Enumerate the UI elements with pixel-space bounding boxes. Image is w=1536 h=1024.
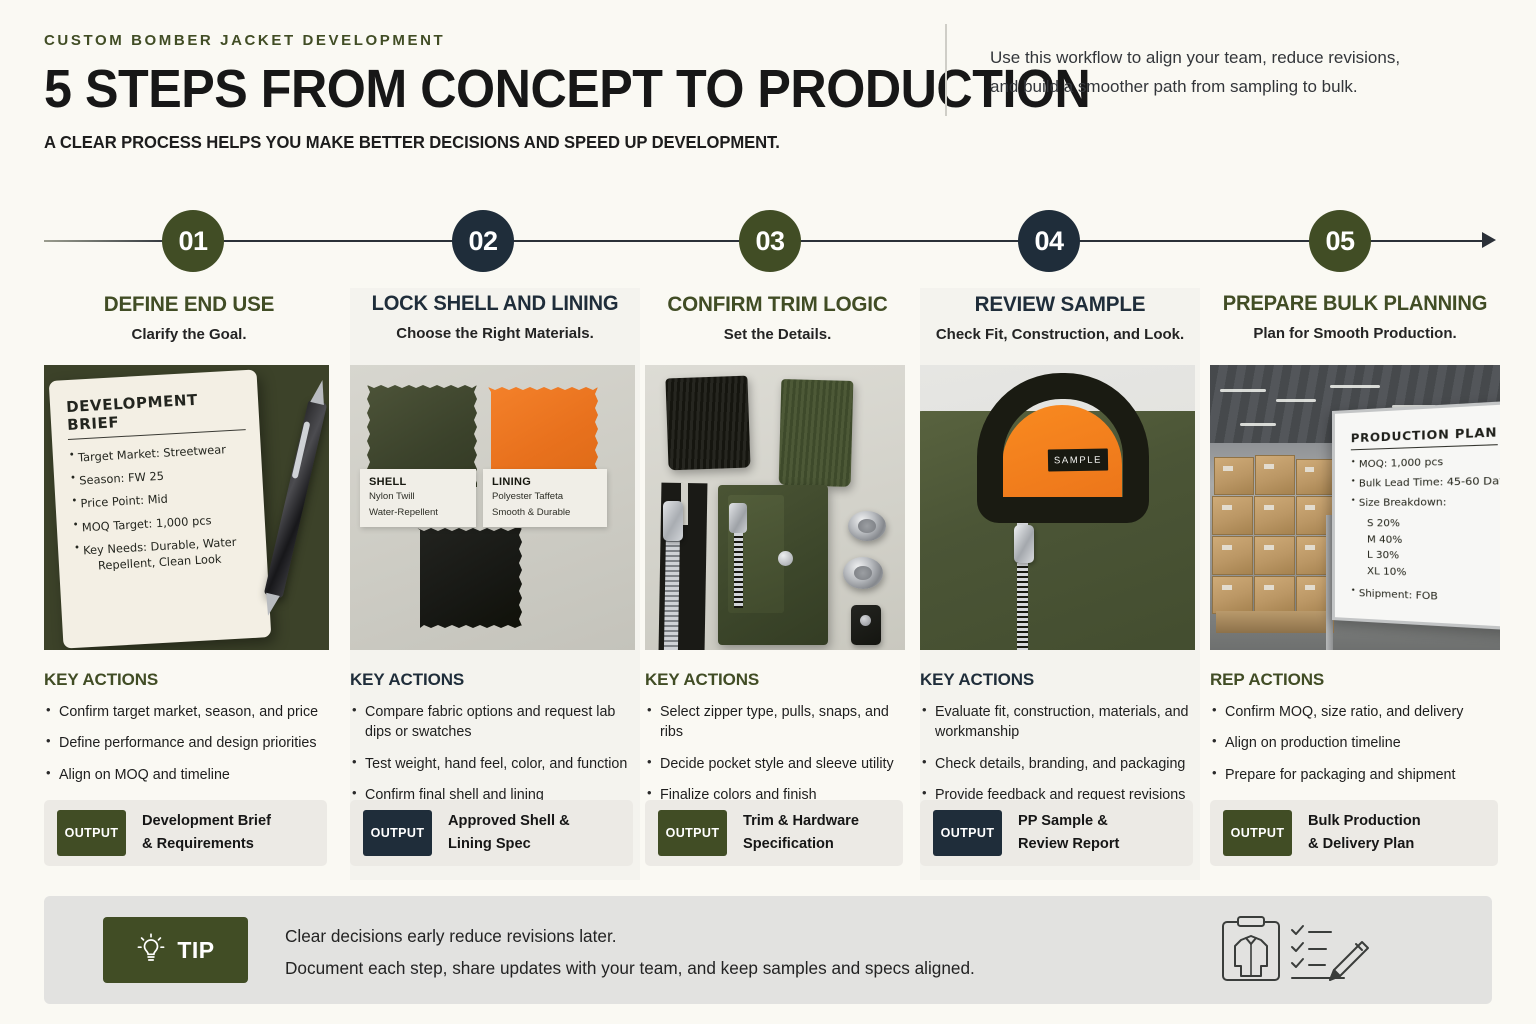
step-image-sample-jacket: SAMPLE <box>920 365 1195 650</box>
notepad-item: Price Point: Mid <box>71 486 250 512</box>
swatch-label-line-2: Water-Repellent <box>369 506 468 520</box>
step-tagline-02: Choose the Right Materials. <box>350 325 640 342</box>
key-actions-block-05: REP ACTIONS Confirm MOQ, size ratio, and… <box>1210 670 1500 796</box>
output-box-02[interactable]: OUTPUT Approved Shell & Lining Spec <box>350 800 633 866</box>
pencil-icon <box>1330 942 1368 980</box>
output-badge-03: OUTPUT <box>658 810 727 856</box>
output-box-04[interactable]: OUTPUT PP Sample & Review Report <box>920 800 1193 866</box>
timeline-step-marker-05[interactable]: 05 <box>1309 210 1371 272</box>
ceiling-light <box>1330 385 1380 388</box>
key-actions-list-03: Select zipper type, pulls, snaps, and ri… <box>645 702 910 806</box>
board-list-bottom: Shipment: FOB <box>1351 587 1500 608</box>
step-title-02: LOCK SHELL AND LINING <box>356 292 634 316</box>
key-action-item: Prepare for packaging and shipment <box>1210 765 1500 785</box>
output-text-04: PP Sample & Review Report <box>1018 810 1119 855</box>
sample-tag: SAMPLE <box>1048 448 1108 471</box>
board-list: MOQ: 1,000 pcs Bulk Lead Time: 45-60 Day… <box>1351 454 1500 511</box>
swatch-label-shell: SHELL Nylon Twill Water-Repellent <box>360 469 476 527</box>
output-line-1: Development Brief <box>142 810 271 833</box>
swatch-rib-black <box>417 528 522 628</box>
key-action-item: Check details, branding, and packaging <box>920 754 1200 774</box>
step-column-01: DEFINE END USE Clarify the Goal. DEVELOP… <box>44 288 334 880</box>
output-box-05[interactable]: OUTPUT Bulk Production & Delivery Plan <box>1210 800 1498 866</box>
step-title-03: CONFIRM TRIM LOGIC <box>650 292 904 317</box>
zipper-teeth <box>664 527 680 650</box>
output-badge-05: OUTPUT <box>1223 810 1292 856</box>
output-text-05: Bulk Production & Delivery Plan <box>1308 810 1421 855</box>
key-action-item: Evaluate fit, construction, materials, a… <box>920 702 1200 743</box>
rib-knit-black <box>665 376 750 471</box>
output-text-02: Approved Shell & Lining Spec <box>448 810 570 855</box>
swatch-label-title: LINING <box>492 476 599 488</box>
snap-ring-icon <box>848 511 886 541</box>
timeline-step-marker-04[interactable]: 04 <box>1018 210 1080 272</box>
pocket-sample <box>718 485 828 645</box>
step-title-01: DEFINE END USE <box>50 292 328 317</box>
step-image-fabric-swatches: SHELL Nylon Twill Water-Repellent LINING… <box>350 365 635 650</box>
timeline-step-marker-01[interactable]: 01 <box>162 210 224 272</box>
tip-line-2: Document each step, share updates with y… <box>285 953 975 985</box>
swatch-label-line-2: Smooth & Durable <box>492 506 599 520</box>
output-badge-02: OUTPUT <box>363 810 432 856</box>
tip-badge: TIP <box>103 917 248 983</box>
board-item-shipment: Shipment: FOB <box>1351 587 1500 608</box>
step-title-04: REVIEW SAMPLE <box>926 292 1195 317</box>
board-item-size-breakdown: Size Breakdown: <box>1351 495 1500 510</box>
rib-knit-olive <box>779 379 854 487</box>
header-note-line-2: and build a smoother path from sampling … <box>990 72 1460 101</box>
step-tagline-03: Set the Details. <box>645 326 910 343</box>
swatch-label-lining: LINING Polyester Taffeta Smooth & Durabl… <box>483 469 607 527</box>
jacket-zipper-pull <box>1014 525 1034 563</box>
step-tagline-04: Check Fit, Construction, and Look. <box>920 326 1200 343</box>
step-column-02: LOCK SHELL AND LINING Choose the Right M… <box>350 288 640 880</box>
timeline-arrow-icon <box>1482 232 1496 248</box>
wooden-pallet <box>1216 611 1334 633</box>
header-note: Use this workflow to align your team, re… <box>990 43 1460 101</box>
page-subtitle: A CLEAR PROCESS HELPS YOU MAKE BETTER DE… <box>44 132 1422 153</box>
board-item-lead-time: Bulk Lead Time: 45-60 Days <box>1351 474 1500 491</box>
board-size-list: S 20% M 40% L 30% XL 10% <box>1367 516 1500 584</box>
output-box-01[interactable]: OUTPUT Development Brief & Requirements <box>44 800 327 866</box>
output-line-2: & Requirements <box>142 833 271 856</box>
key-action-item: Confirm target market, season, and price <box>44 702 334 722</box>
pocket-zipper-pull <box>729 503 747 533</box>
key-actions-block-03: KEY ACTIONS Select zipper type, pulls, s… <box>645 670 910 817</box>
step-column-05: PREPARE BULK PLANNING Plan for Smooth Pr… <box>1210 288 1500 880</box>
production-plan-board: PRODUCTION PLAN MOQ: 1,000 pcs Bulk Lead… <box>1332 400 1500 631</box>
notepad-heading: DEVELOPMENT BRIEF <box>66 388 246 440</box>
carton-stack <box>1212 455 1336 613</box>
timeline: 01 02 03 04 05 <box>0 210 1536 272</box>
header-divider <box>945 24 947 116</box>
key-actions-block-01: KEY ACTIONS Confirm target market, seaso… <box>44 670 334 796</box>
output-text-03: Trim & Hardware Specification <box>743 810 859 855</box>
lightbulb-icon <box>136 930 166 971</box>
key-actions-block-02: KEY ACTIONS Compare fabric options and r… <box>350 670 640 817</box>
jacket-collar-rib <box>977 373 1149 523</box>
tip-badge-label: TIP <box>177 937 214 964</box>
key-actions-heading-01: KEY ACTIONS <box>44 670 334 690</box>
output-line-2: Lining Spec <box>448 833 570 856</box>
tip-line-1: Clear decisions early reduce revisions l… <box>285 921 975 953</box>
output-badge-01: OUTPUT <box>57 810 126 856</box>
zipper-pull-icon <box>663 501 683 541</box>
tip-banner: TIP Clear decisions early reduce revisio… <box>44 896 1492 1004</box>
output-text-01: Development Brief & Requirements <box>142 810 271 855</box>
ceiling-light <box>1220 389 1266 392</box>
header-note-line-1: Use this workflow to align your team, re… <box>990 43 1460 72</box>
notepad-item: Season: FW 25 <box>70 463 249 489</box>
step-tagline-01: Clarify the Goal. <box>44 326 334 343</box>
timeline-step-marker-03[interactable]: 03 <box>739 210 801 272</box>
key-actions-list-04: Evaluate fit, construction, materials, a… <box>920 702 1200 806</box>
pocket-snap-button <box>778 551 793 566</box>
ceiling-light <box>1240 423 1276 426</box>
step-column-03: CONFIRM TRIM LOGIC Set the Details. KEY … <box>645 288 910 880</box>
board-size-item: S 20% <box>1367 516 1500 533</box>
checklist-icon <box>1292 926 1344 978</box>
tip-illustration <box>1214 914 1374 986</box>
key-actions-list-02: Compare fabric options and request lab d… <box>350 702 640 806</box>
key-action-item: Confirm MOQ, size ratio, and delivery <box>1210 702 1500 722</box>
output-line-1: Bulk Production <box>1308 810 1421 833</box>
clipboard-jacket-icon <box>1223 917 1279 980</box>
swatch-label-line-1: Polyester Taffeta <box>492 490 599 504</box>
step-title-05: PREPARE BULK PLANNING <box>1216 292 1494 316</box>
swatch-label-title: SHELL <box>369 476 468 488</box>
key-action-item: Test weight, hand feel, color, and funct… <box>350 754 640 774</box>
key-action-item: Align on MOQ and timeline <box>44 765 334 785</box>
key-actions-heading-05: REP ACTIONS <box>1210 670 1500 690</box>
notepad-list: Target Market: Streetwear Season: FW 25 … <box>69 440 254 575</box>
output-line-2: & Delivery Plan <box>1308 833 1421 856</box>
key-action-item: Decide pocket style and sleeve utility <box>645 754 910 774</box>
key-actions-heading-02: KEY ACTIONS <box>350 670 640 690</box>
output-badge-04: OUTPUT <box>933 810 1002 856</box>
steps-grid: DEFINE END USE Clarify the Goal. DEVELOP… <box>0 288 1536 880</box>
output-box-03[interactable]: OUTPUT Trim & Hardware Specification <box>645 800 903 866</box>
notepad-item: MOQ Target: 1,000 pcs <box>72 510 251 536</box>
key-actions-block-04: KEY ACTIONS Evaluate fit, construction, … <box>920 670 1200 817</box>
output-line-2: Specification <box>743 833 859 856</box>
notepad-item: Target Market: Streetwear <box>69 440 248 466</box>
snap-base-black <box>851 605 881 645</box>
output-line-1: PP Sample & <box>1018 810 1119 833</box>
key-action-item: Select zipper type, pulls, snaps, and ri… <box>645 702 910 743</box>
output-line-2: Review Report <box>1018 833 1119 856</box>
step-tagline-05: Plan for Smooth Production. <box>1210 325 1500 342</box>
timeline-step-marker-02[interactable]: 02 <box>452 210 514 272</box>
board-heading: PRODUCTION PLAN <box>1351 425 1498 451</box>
key-action-item: Align on production timeline <box>1210 733 1500 753</box>
board-size-item: XL 10% <box>1367 563 1500 584</box>
notepad-item: Key Needs: Durable, Water Repellent, Cle… <box>74 533 254 575</box>
key-action-item: Define performance and design priorities <box>44 733 334 753</box>
output-line-1: Approved Shell & <box>448 810 570 833</box>
notepad: DEVELOPMENT BRIEF Target Market: Streetw… <box>49 369 272 648</box>
step-image-trims-hardware <box>645 365 905 650</box>
key-actions-heading-04: KEY ACTIONS <box>920 670 1200 690</box>
tip-text: Clear decisions early reduce revisions l… <box>285 921 975 985</box>
key-actions-list-01: Confirm target market, season, and price… <box>44 702 334 785</box>
key-actions-list-05: Confirm MOQ, size ratio, and delivery Al… <box>1210 702 1500 785</box>
output-line-1: Trim & Hardware <box>743 810 859 833</box>
swatch-label-line-1: Nylon Twill <box>369 490 468 504</box>
ceiling-light <box>1276 399 1316 402</box>
board-item-moq: MOQ: 1,000 pcs <box>1351 454 1500 473</box>
snap-ring-icon <box>843 557 883 589</box>
step-image-development-brief: DEVELOPMENT BRIEF Target Market: Streetw… <box>44 365 329 650</box>
key-actions-heading-03: KEY ACTIONS <box>645 670 910 690</box>
key-action-item: Compare fabric options and request lab d… <box>350 702 640 743</box>
step-column-04: REVIEW SAMPLE Check Fit, Construction, a… <box>920 288 1200 880</box>
step-image-warehouse-plan: PRODUCTION PLAN MOQ: 1,000 pcs Bulk Lead… <box>1210 365 1500 650</box>
